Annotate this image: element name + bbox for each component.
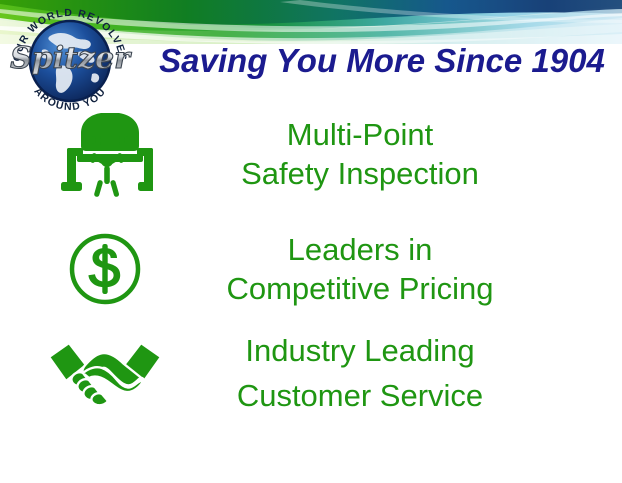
feature-line: Customer Service — [210, 373, 510, 418]
dollar-circle-icon — [66, 230, 144, 308]
svg-text:Spitzer: Spitzer — [10, 41, 132, 76]
feature-line: Multi-Point — [210, 115, 510, 154]
dollar-circle-icon-wrap — [0, 230, 210, 308]
car-lift-icon — [57, 109, 153, 199]
feature-line: Safety Inspection — [210, 154, 510, 193]
feature-text-service: Industry Leading Customer Service — [210, 328, 510, 418]
feature-text-pricing: Leaders in Competitive Pricing — [210, 230, 510, 308]
feature-line: Industry Leading — [210, 328, 510, 373]
page-title: Saving You More Since 1904 — [148, 40, 616, 82]
feature-text-inspection: Multi-Point Safety Inspection — [210, 115, 510, 193]
logo-graphic: OUR WORLD REVOLVES AROUND YOU Spitzer — [6, 4, 134, 114]
feature-row-pricing: Leaders in Competitive Pricing — [0, 222, 622, 316]
spitzer-logo: OUR WORLD REVOLVES AROUND YOU Spitzer — [6, 4, 134, 114]
feature-line: Leaders in — [210, 230, 510, 269]
car-lift-icon-wrap — [0, 109, 210, 199]
handshake-icon — [45, 335, 165, 411]
feature-line: Competitive Pricing — [210, 269, 510, 308]
handshake-icon-wrap — [0, 335, 210, 411]
feature-row-service: Industry Leading Customer Service — [0, 326, 622, 420]
feature-row-inspection: Multi-Point Safety Inspection — [0, 104, 622, 204]
logo-wordmark: Spitzer — [10, 41, 132, 76]
